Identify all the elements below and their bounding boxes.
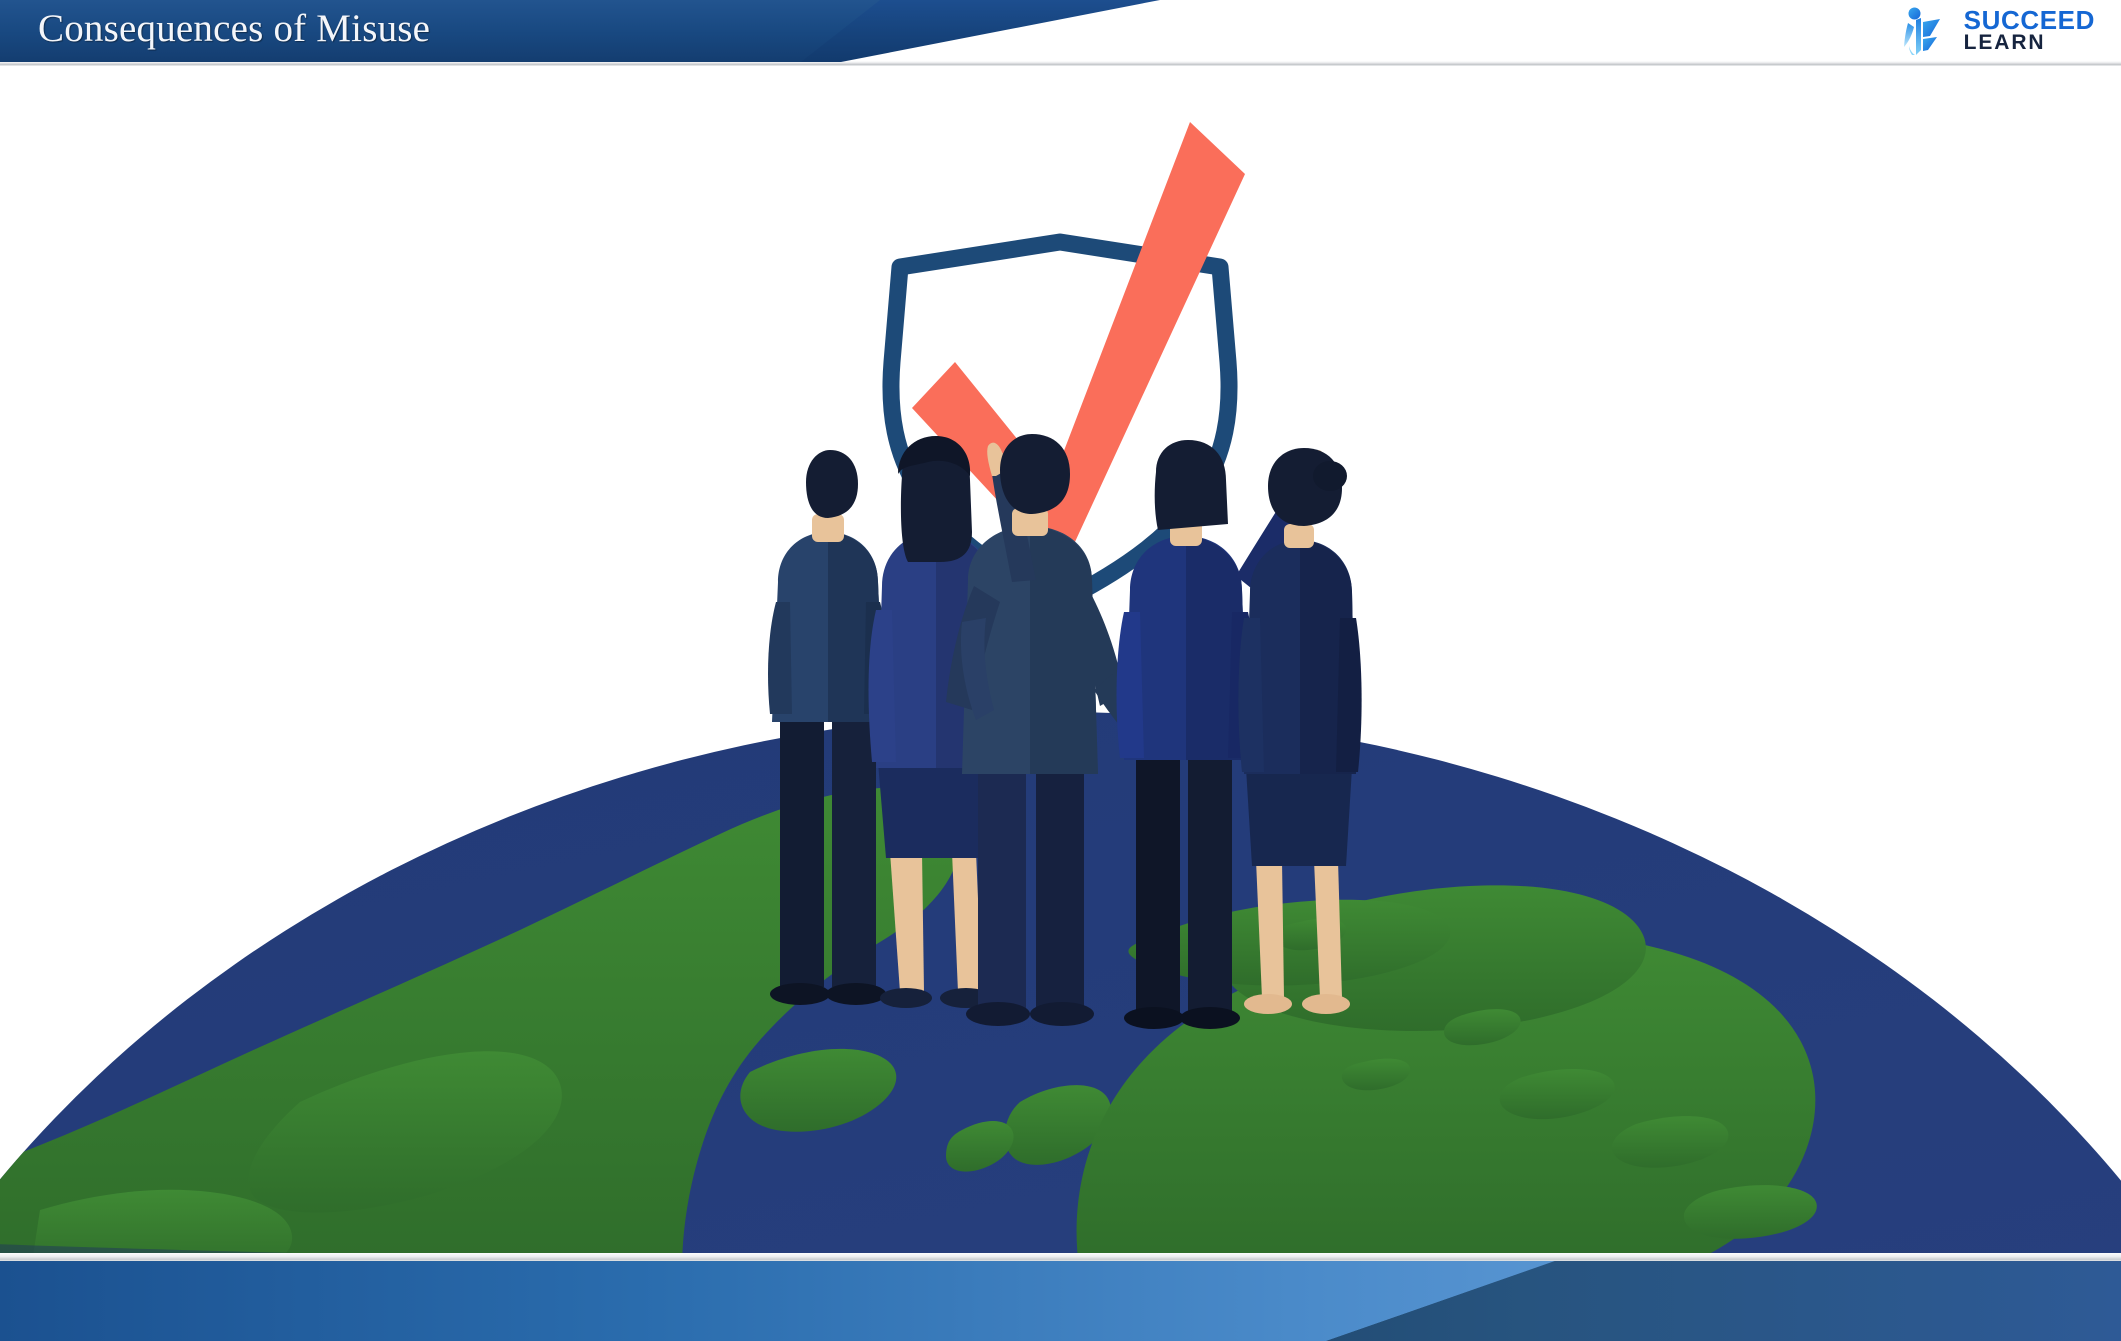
logo-wordmark: SUCCEED LEARN xyxy=(1964,8,2095,54)
bottom-accent-bar xyxy=(0,1253,2121,1341)
slide-root: Consequences of Misuse xyxy=(0,0,2121,1341)
team-on-globe-illustration xyxy=(0,62,2121,1279)
brand-logo[interactable]: SUCCEED LEARN xyxy=(1899,5,2095,57)
logo-word-succeed: SUCCEED xyxy=(1964,8,2095,33)
logo-word-learn: LEARN xyxy=(1964,33,2095,53)
slide-title: Consequences of Misuse xyxy=(38,6,430,51)
succeed-learn-person-icon xyxy=(1899,6,1953,56)
